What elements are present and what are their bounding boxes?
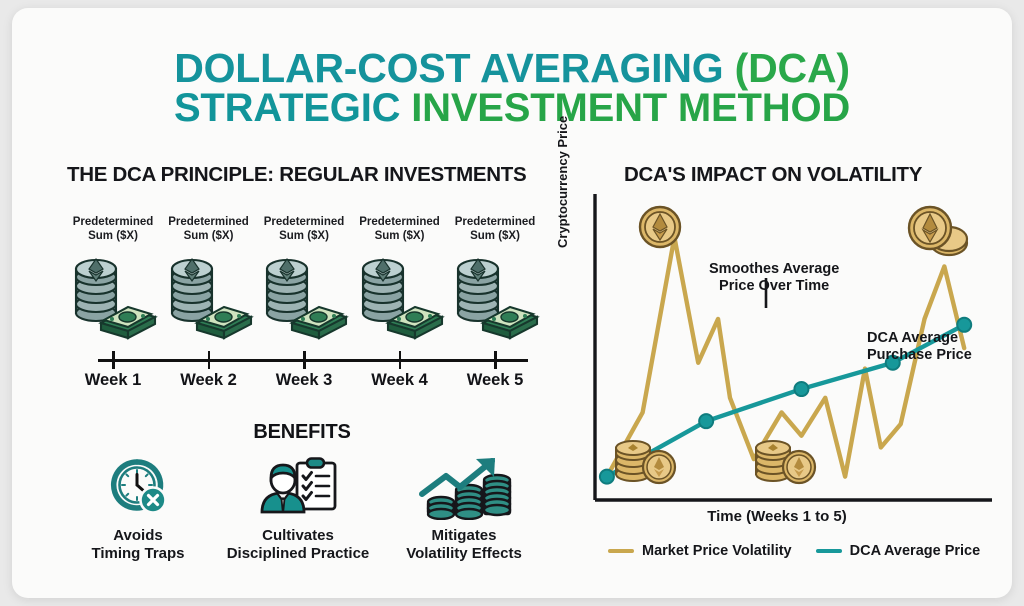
coin-cash-stack-icon xyxy=(256,251,352,343)
gold-eth-coin-icon-top-right xyxy=(905,204,969,260)
benefit-avoids-timing-traps: AvoidsTiming Traps xyxy=(48,451,228,563)
benefit-mitigates-volatility-effects: MitigatesVolatility Effects xyxy=(374,451,554,563)
chart-data-point xyxy=(794,382,808,396)
timeline-tick xyxy=(112,351,115,369)
week-name-label: Week 2 xyxy=(161,371,257,390)
week-sum-text: PredeterminedSum ($X) xyxy=(447,215,543,243)
page-title: DOLLAR-COST AVERAGING (DCA) STRATEGIC IN… xyxy=(12,48,1012,128)
legend-item[interactable]: Market Price Volatility xyxy=(608,543,792,559)
title-line-1: DOLLAR-COST AVERAGING (DCA) xyxy=(12,48,1012,89)
benefit-label: CultivatesDisciplined Practice xyxy=(208,527,388,563)
week-name-label: Week 5 xyxy=(447,371,543,390)
annotation-dca-average-purchase-price: DCA Average Purchase Price xyxy=(867,330,972,365)
timeline-tick xyxy=(399,351,402,369)
week-sum-text: PredeterminedSum ($X) xyxy=(161,215,257,243)
week-sum-text: PredeterminedSum ($X) xyxy=(352,215,448,243)
week-sum-label: PredeterminedSum ($X) xyxy=(256,215,352,243)
week-sum-text: PredeterminedSum ($X) xyxy=(65,215,161,243)
week-sum-label: PredeterminedSum ($X) xyxy=(65,215,161,243)
legend-item[interactable]: DCA Average Price xyxy=(816,543,981,559)
title-line-2: STRATEGIC INVESTMENT METHOD xyxy=(12,89,1012,129)
coin-cash-stack-icon xyxy=(65,251,161,343)
gold-coin-stack-icon-left xyxy=(610,432,682,488)
legend-label: DCA Average Price xyxy=(850,543,981,559)
week-sum-label: PredeterminedSum ($X) xyxy=(161,215,257,243)
chart-legend: Market Price VolatilityDCA Average Price xyxy=(608,543,998,559)
week-name-label: Week 3 xyxy=(256,371,352,390)
title-line-1-part-a: DOLLAR-COST AVERAGING xyxy=(174,45,734,91)
benefit-label: AvoidsTiming Traps xyxy=(48,527,228,563)
legend-label: Market Price Volatility xyxy=(642,543,792,559)
title-line-1-part-b: (DCA) xyxy=(735,45,850,91)
person-checklist-icon xyxy=(208,451,388,523)
timeline-tick xyxy=(208,351,211,369)
benefit-label: MitigatesVolatility Effects xyxy=(374,527,554,563)
timeline-axis xyxy=(98,359,528,362)
week-name-label: Week 4 xyxy=(352,371,448,390)
left-section-heading: THE DCA PRINCIPLE: REGULAR INVESTMENTS xyxy=(67,163,526,187)
coin-cash-stack-icon xyxy=(161,251,257,343)
annotation-smoothes-average: Smoothes Average Price Over Time xyxy=(709,261,839,296)
coin-cash-stack-icon xyxy=(352,251,448,343)
gold-coin-stack-icon-middle xyxy=(750,432,822,488)
legend-swatch xyxy=(816,549,842,552)
timeline-tick xyxy=(303,351,306,369)
title-line-2-part-b: INVESTMENT METHOD xyxy=(411,86,850,130)
gold-eth-coin-icon-top-left xyxy=(637,204,683,250)
coin-cash-stack-icon xyxy=(447,251,543,343)
week-sum-text: PredeterminedSum ($X) xyxy=(256,215,352,243)
chart-data-point xyxy=(699,414,713,428)
week-sum-label: PredeterminedSum ($X) xyxy=(352,215,448,243)
growth-arrow-coins-icon xyxy=(374,451,554,523)
benefits-heading: BENEFITS xyxy=(12,421,592,444)
clock-x-icon xyxy=(48,451,228,523)
week-name-label: Week 1 xyxy=(65,371,161,390)
chart-heading: DCA'S IMPACT ON VOLATILITY xyxy=(624,163,922,187)
timeline-tick xyxy=(494,351,497,369)
legend-swatch xyxy=(608,549,634,552)
benefit-cultivates-disciplined-practice: CultivatesDisciplined Practice xyxy=(208,451,388,563)
title-line-2-part-a: STRATEGIC xyxy=(174,86,411,130)
week-sum-label: PredeterminedSum ($X) xyxy=(447,215,543,243)
infographic-card: DOLLAR-COST AVERAGING (DCA) STRATEGIC IN… xyxy=(12,8,1012,598)
